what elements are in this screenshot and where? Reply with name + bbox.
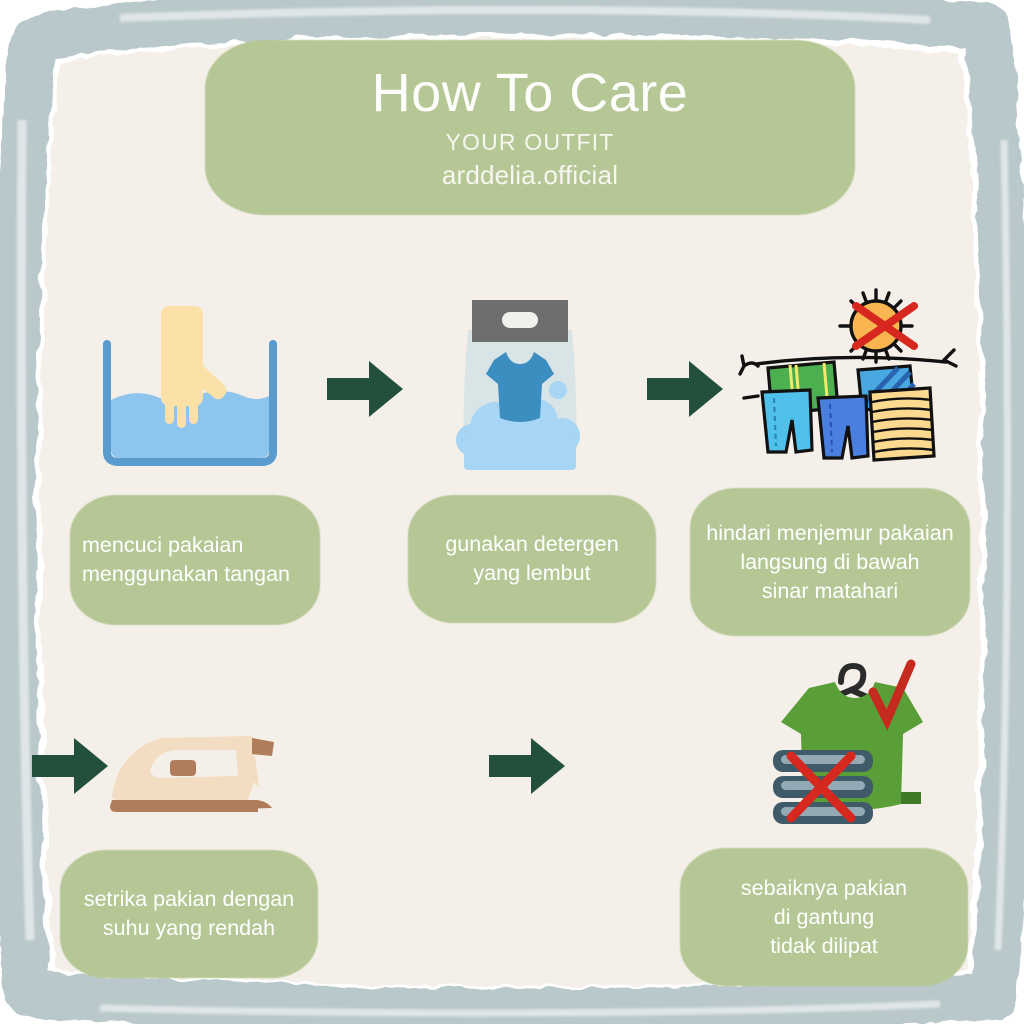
step-1-caption: mencuci pakaian menggunakan tangan	[82, 495, 332, 625]
page-title: How To Care	[372, 63, 689, 123]
hang-not-fold-icon	[745, 652, 945, 837]
detergent-bag-icon	[450, 288, 590, 483]
page-subtitle: YOUR OUTFIT	[445, 127, 614, 157]
step-3-caption: hindari menjemur pakaian langsung di baw…	[690, 488, 970, 636]
header-text-group: How To Care YOUR OUTFIT arddelia.officia…	[205, 40, 855, 215]
account-handle: arddelia.official	[442, 158, 618, 192]
next-step-arrow	[487, 735, 567, 797]
next-step-arrow	[30, 735, 110, 797]
poster-canvas: How To Care YOUR OUTFIT arddelia.officia…	[0, 0, 1024, 1024]
step-2-caption: gunakan detergen yang lembut	[408, 495, 656, 623]
next-step-arrow	[325, 358, 405, 420]
clothesline-no-sun-icon	[738, 286, 963, 486]
iron-icon	[102, 720, 292, 820]
step-4-caption: setrika pakian dengan suhu yang rendah	[60, 850, 318, 978]
step-5-caption: sebaiknya pakian di gantung tidak dilipa…	[680, 848, 968, 986]
next-step-arrow	[645, 358, 725, 420]
hand-wash-basin-icon	[95, 292, 285, 477]
